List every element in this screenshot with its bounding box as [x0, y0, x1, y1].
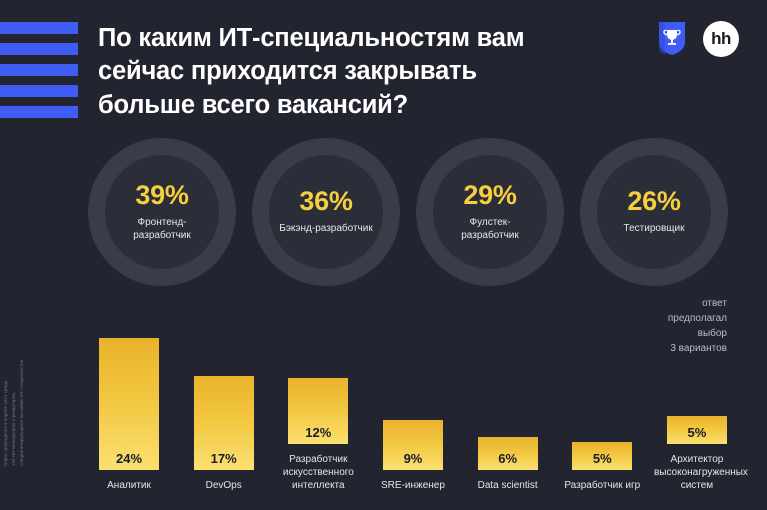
donut-percent: 26%: [627, 188, 680, 215]
donut-chart: 36% Бэкэнд-разработчик: [252, 138, 400, 286]
bar: 9%: [383, 420, 443, 470]
bar-value: 9%: [404, 451, 423, 466]
donut-label: Фулстек-разработчик: [441, 216, 539, 243]
bar: 5%: [572, 442, 632, 470]
donut-chart: 29% Фулстек-разработчик: [416, 138, 564, 286]
source-line: специализирующихся на найме ИТ-специалис…: [18, 291, 26, 466]
bar-column: 17% DevOps: [183, 292, 265, 492]
bar-label: Архитектор высоконагруженных систем: [654, 453, 740, 492]
donut-label: Бэкэнд-разработчик: [279, 222, 372, 236]
decorative-bar: [0, 22, 78, 34]
bar-value: 5%: [688, 425, 707, 440]
decorative-bar: [0, 64, 78, 76]
bar: 5%: [667, 416, 727, 444]
decorative-bar: [0, 106, 78, 118]
donut-inner: 36% Бэкэнд-разработчик: [269, 155, 383, 269]
bar-value: 17%: [211, 451, 237, 466]
decorative-blue-bars: [0, 22, 78, 127]
bar-column: 12% Разработчик искусственного интеллект…: [277, 292, 359, 492]
bar-label: Data scientist: [465, 479, 551, 492]
bar-label: Разработчик игр: [559, 479, 645, 492]
bar-value: 5%: [593, 451, 612, 466]
donut-percent: 29%: [463, 182, 516, 209]
infographic-root: По каким ИТ-специальностям вам сейчас пр…: [0, 0, 767, 510]
bar-label: Разработчик искусственного интеллекта: [275, 453, 361, 492]
source-note: Опрос проводился в апреле 2021 среди 100…: [2, 291, 26, 466]
source-line: 100 HR-менеджеров и рекрутеров,: [10, 291, 18, 466]
hh-logo: hh: [703, 21, 739, 57]
bar-label: DevOps: [181, 479, 267, 492]
source-line: Опрос проводился в апреле 2021 среди: [2, 291, 10, 466]
trophy-shield-icon: [657, 20, 687, 57]
donut-inner: 29% Фулстек-разработчик: [433, 155, 547, 269]
donut-label: Тестировщик: [624, 222, 685, 236]
bar-column: 6% Data scientist: [467, 292, 549, 492]
bar-value: 24%: [116, 451, 142, 466]
bar-column: 24% Аналитик: [88, 292, 170, 492]
donut-row: 39% Фронтенд-разработчик 36% Бэкэнд-разр…: [88, 138, 728, 286]
bar-value: 6%: [498, 451, 517, 466]
bar-column: 5% Разработчик игр: [561, 292, 643, 492]
donut-inner: 39% Фронтенд-разработчик: [105, 155, 219, 269]
donut-chart: 39% Фронтенд-разработчик: [88, 138, 236, 286]
logo-group: hh: [657, 20, 739, 57]
bar-chart: 24% Аналитик 17% DevOps 12% Разработчик …: [88, 292, 738, 492]
bar: 24%: [99, 338, 159, 470]
donut-percent: 36%: [299, 188, 352, 215]
bar-label: Аналитик: [86, 479, 172, 492]
donut-percent: 39%: [135, 182, 188, 209]
donut-chart: 26% Тестировщик: [580, 138, 728, 286]
bar-label: SRE-инженер: [370, 479, 456, 492]
decorative-bar: [0, 43, 78, 55]
donut-inner: 26% Тестировщик: [597, 155, 711, 269]
decorative-bar: [0, 85, 78, 97]
bar-value: 12%: [305, 425, 331, 440]
donut-label: Фронтенд-разработчик: [113, 216, 211, 243]
bar: 17%: [194, 376, 254, 470]
bar: 12%: [288, 378, 348, 444]
bar-column: 9% SRE-инженер: [372, 292, 454, 492]
page-title: По каким ИТ-специальностям вам сейчас пр…: [98, 22, 568, 122]
bar: 6%: [478, 437, 538, 470]
bar-column: 5% Архитектор высоконагруженных систем: [656, 292, 738, 492]
